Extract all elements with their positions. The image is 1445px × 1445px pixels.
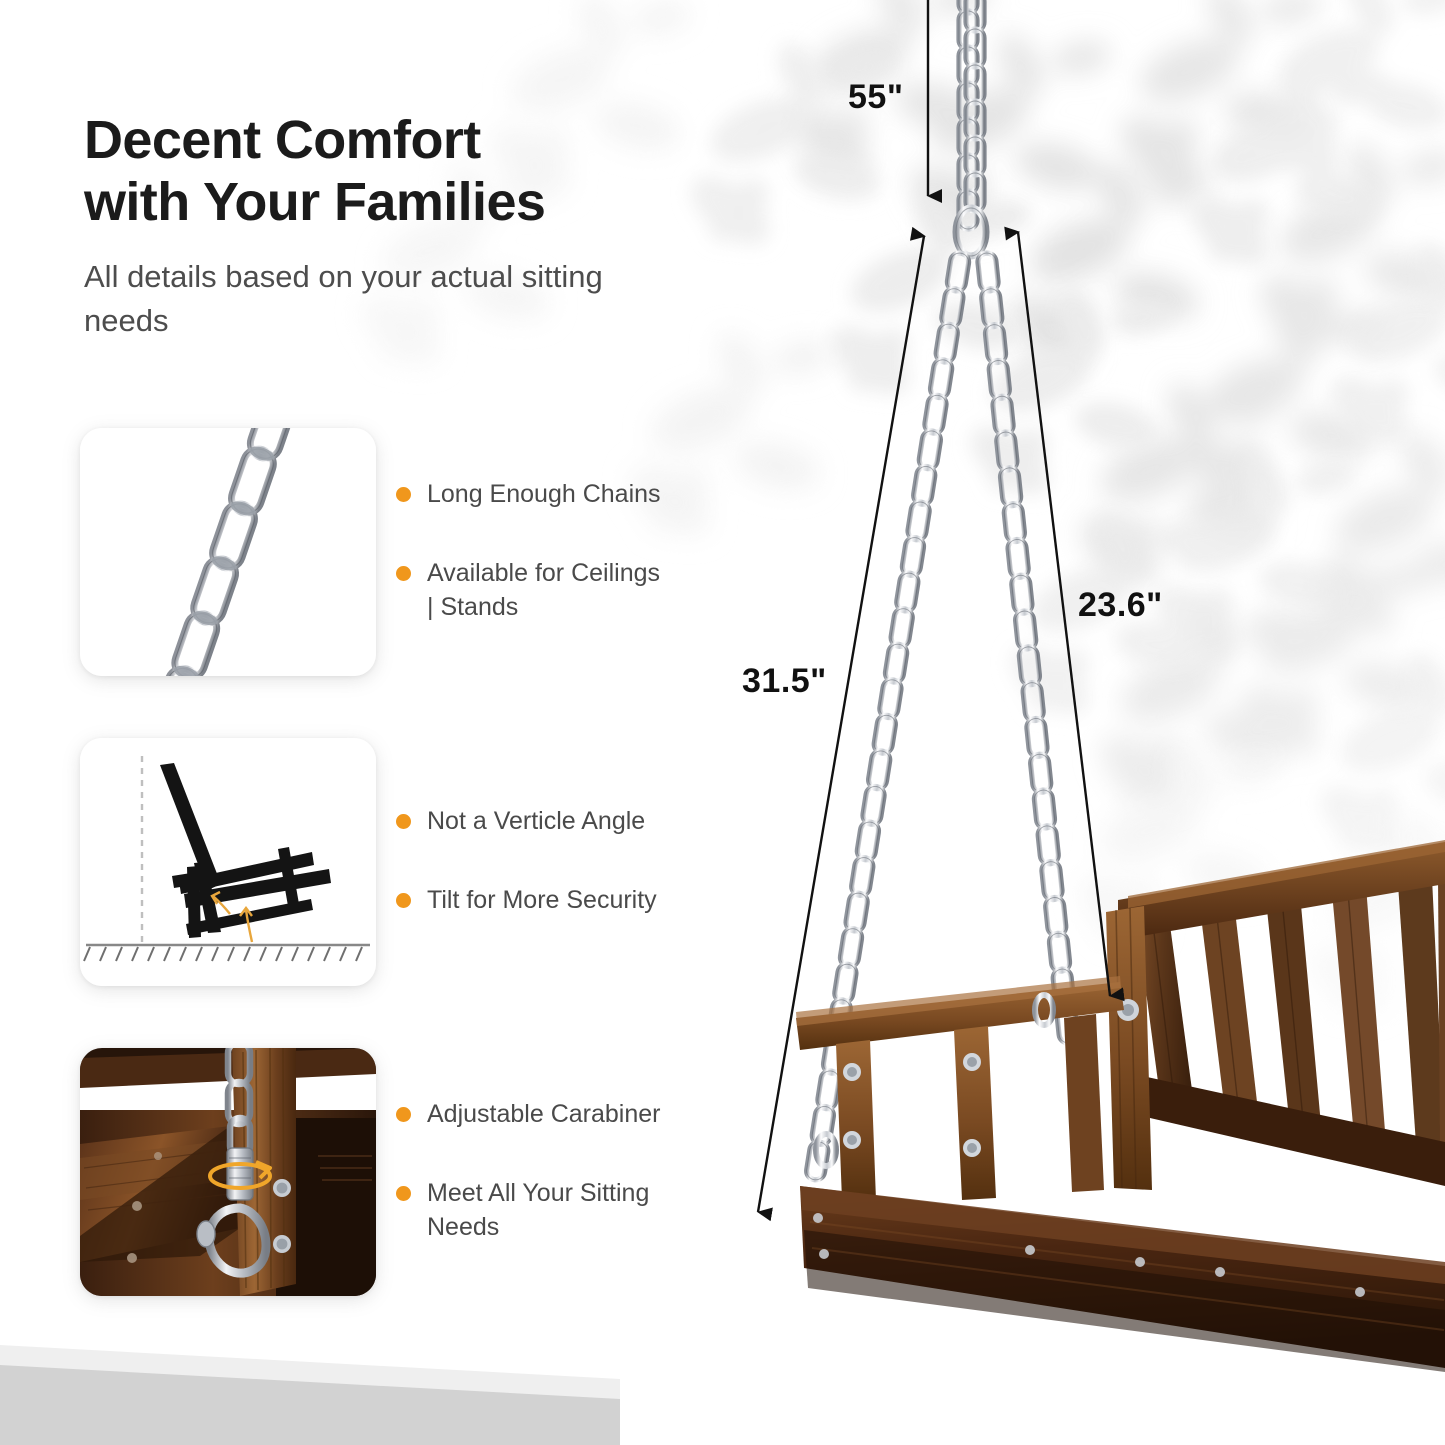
page-subtitle: All details based on your actual sitting… bbox=[84, 255, 604, 343]
coupling-nut bbox=[227, 1148, 253, 1200]
carabiner-closeup-photo bbox=[80, 1048, 376, 1296]
chain-closeup-photo bbox=[80, 428, 376, 676]
headline-line-2: with Your Families bbox=[84, 172, 684, 234]
bullet-label: Meet All Your Sitting Needs bbox=[427, 1177, 667, 1244]
bullet-item: Not a Verticle Angle bbox=[396, 805, 696, 839]
back-left-post bbox=[1106, 906, 1152, 1190]
bullet-item: Tilt for More Security bbox=[396, 884, 696, 918]
arm-support-mid bbox=[954, 1026, 996, 1200]
dimension-label-55: 55" bbox=[848, 78, 903, 117]
feature-row-carabiner: Adjustable Carabiner Meet All Your Sitti… bbox=[0, 1040, 700, 1302]
feature-row-chains: Long Enough Chains Available for Ceiling… bbox=[0, 420, 700, 682]
feature-bullets-tilt: Not a Verticle Angle Tilt for More Secur… bbox=[396, 730, 696, 992]
dimension-label-31-5: 31.5" bbox=[742, 662, 827, 701]
headline-line-1: Decent Comfort bbox=[84, 110, 684, 172]
tilt-angle-diagram bbox=[80, 738, 376, 986]
bullet-item: Available for Ceilings | Stands bbox=[396, 557, 696, 624]
bullet-label: Adjustable Carabiner bbox=[427, 1098, 667, 1132]
bullet-dot-icon bbox=[396, 893, 411, 908]
bullet-label: Not a Verticle Angle bbox=[427, 805, 667, 839]
feature-bullets-carabiner: Adjustable Carabiner Meet All Your Sitti… bbox=[396, 1040, 696, 1302]
bullet-item: Long Enough Chains bbox=[396, 478, 696, 512]
chain-junction-ring bbox=[956, 208, 986, 256]
feature-bullets-chains: Long Enough Chains Available for Ceiling… bbox=[396, 420, 696, 682]
bullet-dot-icon bbox=[396, 1186, 411, 1201]
product-illustration bbox=[700, 0, 1445, 1445]
bullet-dot-icon bbox=[396, 814, 411, 829]
bullet-label: Tilt for More Security bbox=[427, 884, 667, 918]
bullet-dot-icon bbox=[396, 1107, 411, 1122]
chain-trunk bbox=[959, 0, 984, 229]
bullet-item: Meet All Your Sitting Needs bbox=[396, 1177, 696, 1244]
info-column: Decent Comfort with Your Families All de… bbox=[0, 0, 700, 1445]
chain-branch-right bbox=[977, 252, 1078, 1044]
porch-swing-bench bbox=[796, 840, 1445, 1372]
bullet-label: Long Enough Chains bbox=[427, 478, 667, 512]
feature-row-tilt: Not a Verticle Angle Tilt for More Secur… bbox=[0, 730, 700, 992]
backrest-slats bbox=[1118, 840, 1445, 1186]
page-title: Decent Comfort with Your Families bbox=[84, 110, 684, 233]
bullet-dot-icon bbox=[396, 487, 411, 502]
bullet-label: Available for Ceilings | Stands bbox=[427, 557, 667, 624]
bullet-item: Adjustable Carabiner bbox=[396, 1098, 696, 1132]
dimension-label-23-6: 23.6" bbox=[1078, 586, 1163, 625]
bullet-dot-icon bbox=[396, 566, 411, 581]
